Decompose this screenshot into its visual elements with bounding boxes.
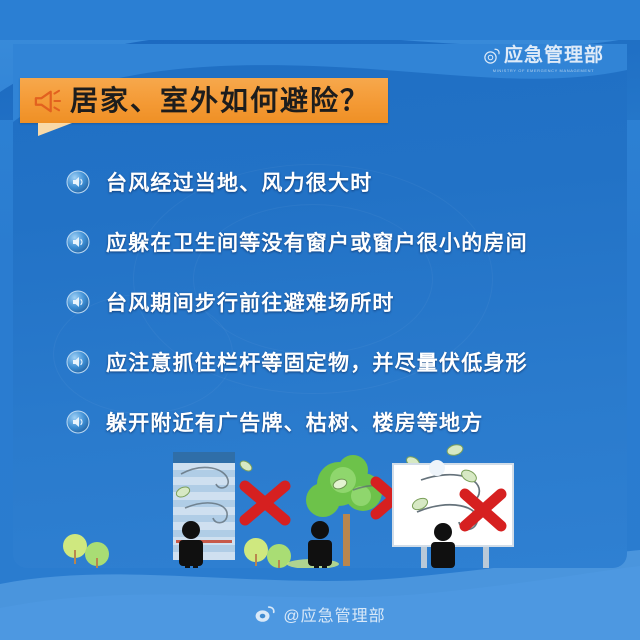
red-x-icon [245, 486, 285, 520]
list-item-label: 应注意抓住栏杆等固定物，并尽量伏低身形 [106, 347, 528, 377]
weibo-icon [254, 605, 276, 623]
speaker-icon [66, 170, 90, 194]
list-item: 躲开附近有广告牌、枯树、楼房等地方 [66, 392, 611, 452]
list-item-label: 躲开附近有广告牌、枯树、楼房等地方 [106, 407, 483, 437]
person-silhouette [308, 521, 332, 568]
hazard-illustration [13, 444, 627, 568]
ministry-logo-name: 应急管理部 [504, 46, 604, 65]
weibo-logo-icon [483, 47, 501, 65]
speaker-icon [66, 410, 90, 434]
section-banner: 居家、室外如何避险？ [20, 78, 388, 123]
ministry-logo: 应急管理部 MINISTRY OF EMERGENCY MANAGEMENT [483, 46, 604, 73]
speaker-icon [66, 230, 90, 254]
list-item: 应注意抓住栏杆等固定物，并尽量伏低身形 [66, 332, 611, 392]
banner-tail-decoration [38, 123, 72, 136]
list-item-label: 台风期间步行前往避难场所时 [106, 287, 395, 317]
banner-title: 居家、室外如何避险？ [70, 87, 370, 115]
person-silhouette [179, 521, 203, 568]
advice-list: 台风经过当地、风力很大时 应躲在卫生间等没有窗户或窗户很小的房间 台风期间步行前… [66, 152, 611, 452]
megaphone-icon [32, 88, 62, 114]
ministry-logo-subtitle: MINISTRY OF EMERGENCY MANAGEMENT [493, 68, 594, 73]
footer-credit: @应急管理部 [0, 602, 640, 626]
speaker-icon [66, 350, 90, 374]
scene-building [63, 452, 291, 568]
person-silhouette [431, 523, 455, 568]
footer-handle: @应急管理部 [283, 602, 385, 626]
speaker-icon [66, 290, 90, 314]
list-item-label: 台风经过当地、风力很大时 [106, 167, 372, 197]
header-strip [0, 0, 640, 40]
list-item-label: 应躲在卫生间等没有窗户或窗户很小的房间 [106, 227, 528, 257]
list-item: 台风经过当地、风力很大时 [66, 152, 611, 212]
list-item: 台风期间步行前往避难场所时 [66, 272, 611, 332]
infographic-page: “疯狂”的秋台风怎么防？>> 应急管理部 MINISTRY OF EMERGEN… [0, 0, 640, 640]
list-item: 应躲在卫生间等没有窗户或窗户很小的房间 [66, 212, 611, 272]
